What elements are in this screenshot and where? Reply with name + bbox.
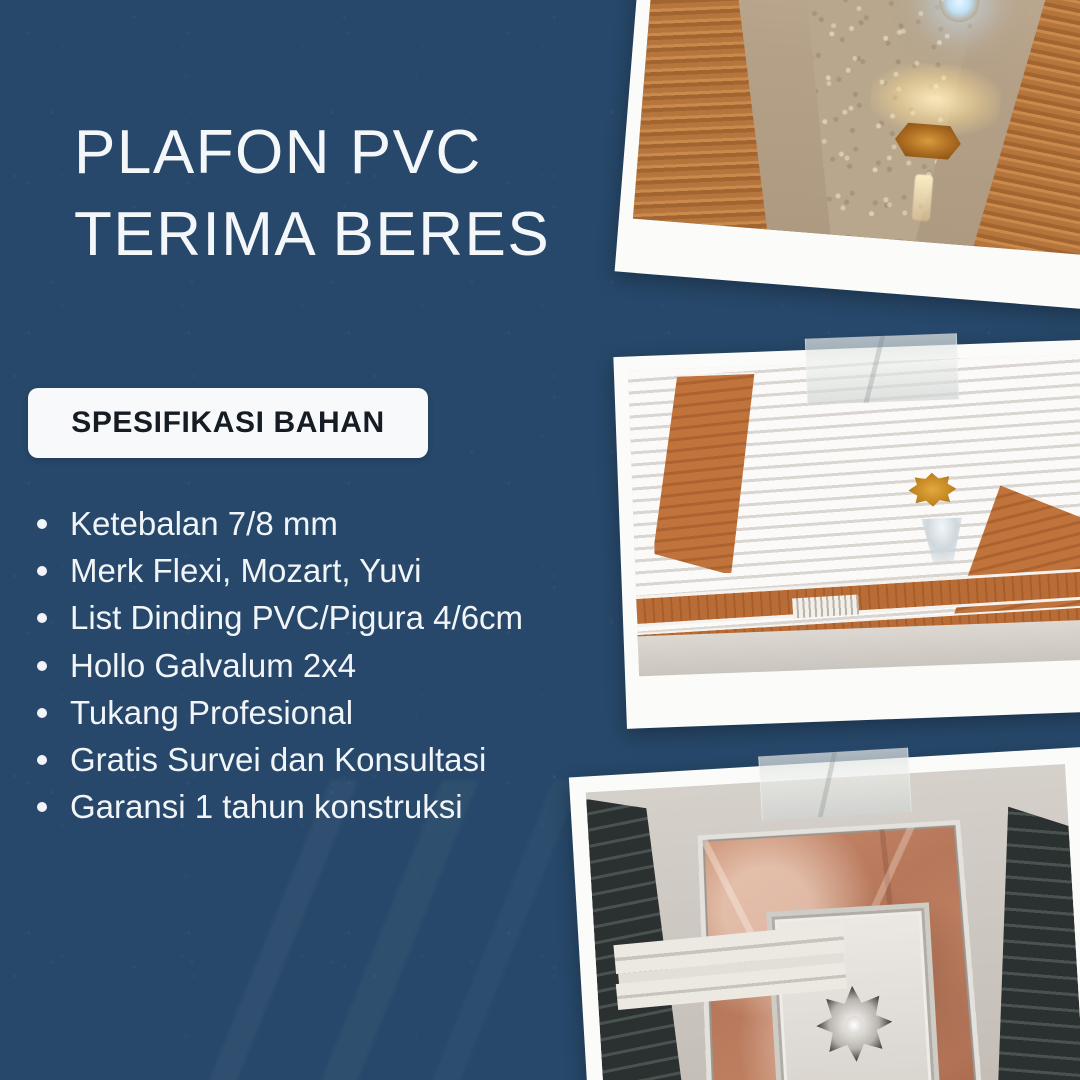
bullet-dot-icon xyxy=(37,708,47,718)
page-title: PLAFON PVC TERIMA BERES xyxy=(74,112,634,276)
list-item-label: Merk Flexi, Mozart, Yuvi xyxy=(70,552,421,589)
gallery-photo-golden-ceiling xyxy=(615,0,1080,311)
tape-strip-striped-ceiling xyxy=(805,333,959,405)
list-item-label: Ketebalan 7/8 mm xyxy=(70,505,338,542)
poster-canvas: PLAFON PVC TERIMA BERES SPESIFIKASI BAHA… xyxy=(0,0,1080,1080)
list-item-label: Tukang Profesional xyxy=(70,694,353,731)
list-item: Tukang Profesional xyxy=(28,691,638,734)
photo-image-golden-ceiling xyxy=(633,0,1080,256)
bullet-dot-icon xyxy=(37,661,47,671)
spesifikasi-bahan-badge: SPESIFIKASI BAHAN xyxy=(28,388,428,458)
list-item-label: List Dinding PVC/Pigura 4/6cm xyxy=(70,599,523,636)
ceiling-vent-strip xyxy=(792,594,859,618)
badge-label: SPESIFIKASI BAHAN xyxy=(71,406,385,440)
bullet-dot-icon xyxy=(37,566,47,576)
list-item: List Dinding PVC/Pigura 4/6cm xyxy=(28,596,638,639)
list-item: Merk Flexi, Mozart, Yuvi xyxy=(28,549,638,592)
star-medallion-icon xyxy=(814,984,894,1064)
list-item: Hollo Galvalum 2x4 xyxy=(28,644,638,687)
bullet-dot-icon xyxy=(37,613,47,623)
bullet-dot-icon xyxy=(37,519,47,529)
list-item: Ketebalan 7/8 mm xyxy=(28,502,638,545)
list-item-label: Hollo Galvalum 2x4 xyxy=(70,647,356,684)
list-item-label: Garansi 1 tahun konstruksi xyxy=(70,788,463,825)
bullet-dot-icon xyxy=(37,802,47,812)
list-item: Garansi 1 tahun konstruksi xyxy=(28,785,638,828)
specification-list: Ketebalan 7/8 mm Merk Flexi, Mozart, Yuv… xyxy=(28,502,638,833)
tape-strip-marble-ceiling xyxy=(758,748,912,821)
list-item: Gratis Survei dan Konsultasi xyxy=(28,738,638,781)
list-item-label: Gratis Survei dan Konsultasi xyxy=(70,741,486,778)
bullet-dot-icon xyxy=(37,755,47,765)
